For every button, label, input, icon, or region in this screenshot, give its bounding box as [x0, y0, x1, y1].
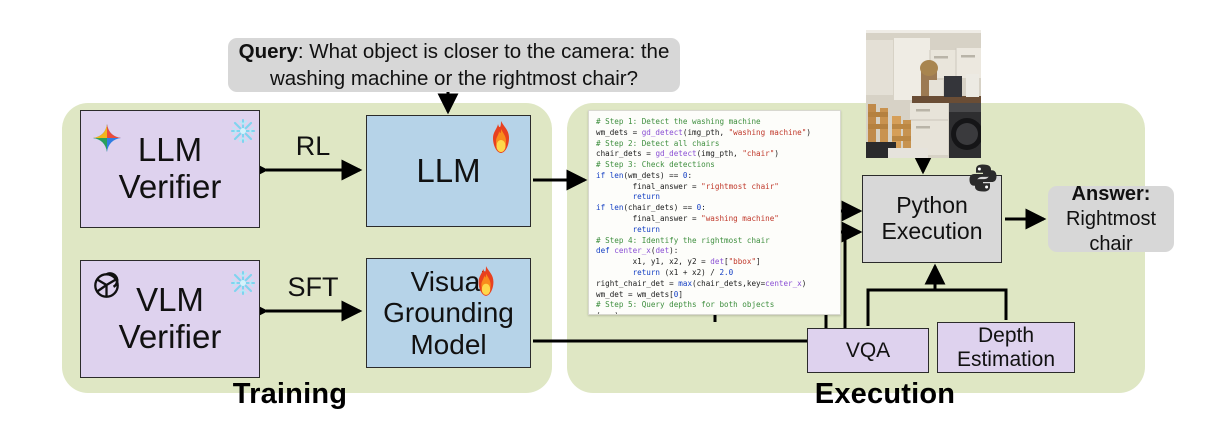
- vqa-box[interactable]: VQA: [807, 328, 929, 373]
- vlm-verifier-label: VLM Verifier: [119, 282, 222, 356]
- training-caption: Training: [180, 378, 400, 411]
- kitchen-scene-photo: [866, 30, 981, 158]
- fire-trainable-icon: [487, 120, 515, 154]
- python-logo-icon: [968, 163, 998, 193]
- snowflake-frozen-icon: [230, 270, 256, 296]
- depth-estimation-label: Depth Estimation: [957, 324, 1055, 371]
- llm-verifier-line2: Verifier: [119, 168, 222, 205]
- gemini-sparkle-icon: [92, 123, 122, 153]
- answer-callout: Answer: Rightmost chair: [1048, 186, 1174, 252]
- vlm-verifier-line1: VLM: [136, 281, 204, 318]
- query-label: Query: [239, 40, 298, 63]
- query-text: Query: What object is closer to the came…: [236, 38, 672, 92]
- llm-label: LLM: [416, 153, 480, 190]
- visual-grounding-model-box[interactable]: Visual Grounding Model: [366, 258, 531, 368]
- python-line2: Execution: [881, 218, 982, 244]
- generated-code-block: # Step 1: Detect the washing machine wm_…: [588, 110, 841, 315]
- vlm-verifier-line2: Verifier: [119, 318, 222, 355]
- diagram-canvas: Query: What object is closer to the came…: [0, 0, 1207, 428]
- llm-verifier-label: LLM Verifier: [119, 132, 222, 206]
- vgm-line3: Model: [410, 329, 486, 360]
- answer-value: Rightmost chair: [1066, 208, 1156, 255]
- execution-caption: Execution: [760, 378, 1010, 411]
- depth-line1: Depth: [978, 324, 1034, 347]
- rl-arrow-label: RL: [258, 131, 368, 162]
- answer-text: Answer: Rightmost chair: [1048, 182, 1174, 257]
- snowflake-frozen-icon: [230, 118, 256, 144]
- vgm-line2: Grounding: [383, 297, 514, 328]
- depth-line2: Estimation: [957, 348, 1055, 371]
- llm-verifier-line1: LLM: [138, 131, 202, 168]
- query-question: What object is closer to the camera: the…: [270, 40, 669, 90]
- python-execution-label: Python Execution: [881, 193, 982, 245]
- sft-arrow-label: SFT: [258, 272, 368, 303]
- query-callout: Query: What object is closer to the came…: [228, 38, 680, 92]
- vqa-label: VQA: [846, 339, 890, 363]
- openai-logo-icon: [92, 271, 121, 300]
- fire-trainable-icon: [473, 265, 499, 297]
- depth-estimation-box[interactable]: Depth Estimation: [937, 322, 1075, 373]
- python-line1: Python: [896, 192, 968, 218]
- answer-label: Answer:: [1072, 183, 1151, 205]
